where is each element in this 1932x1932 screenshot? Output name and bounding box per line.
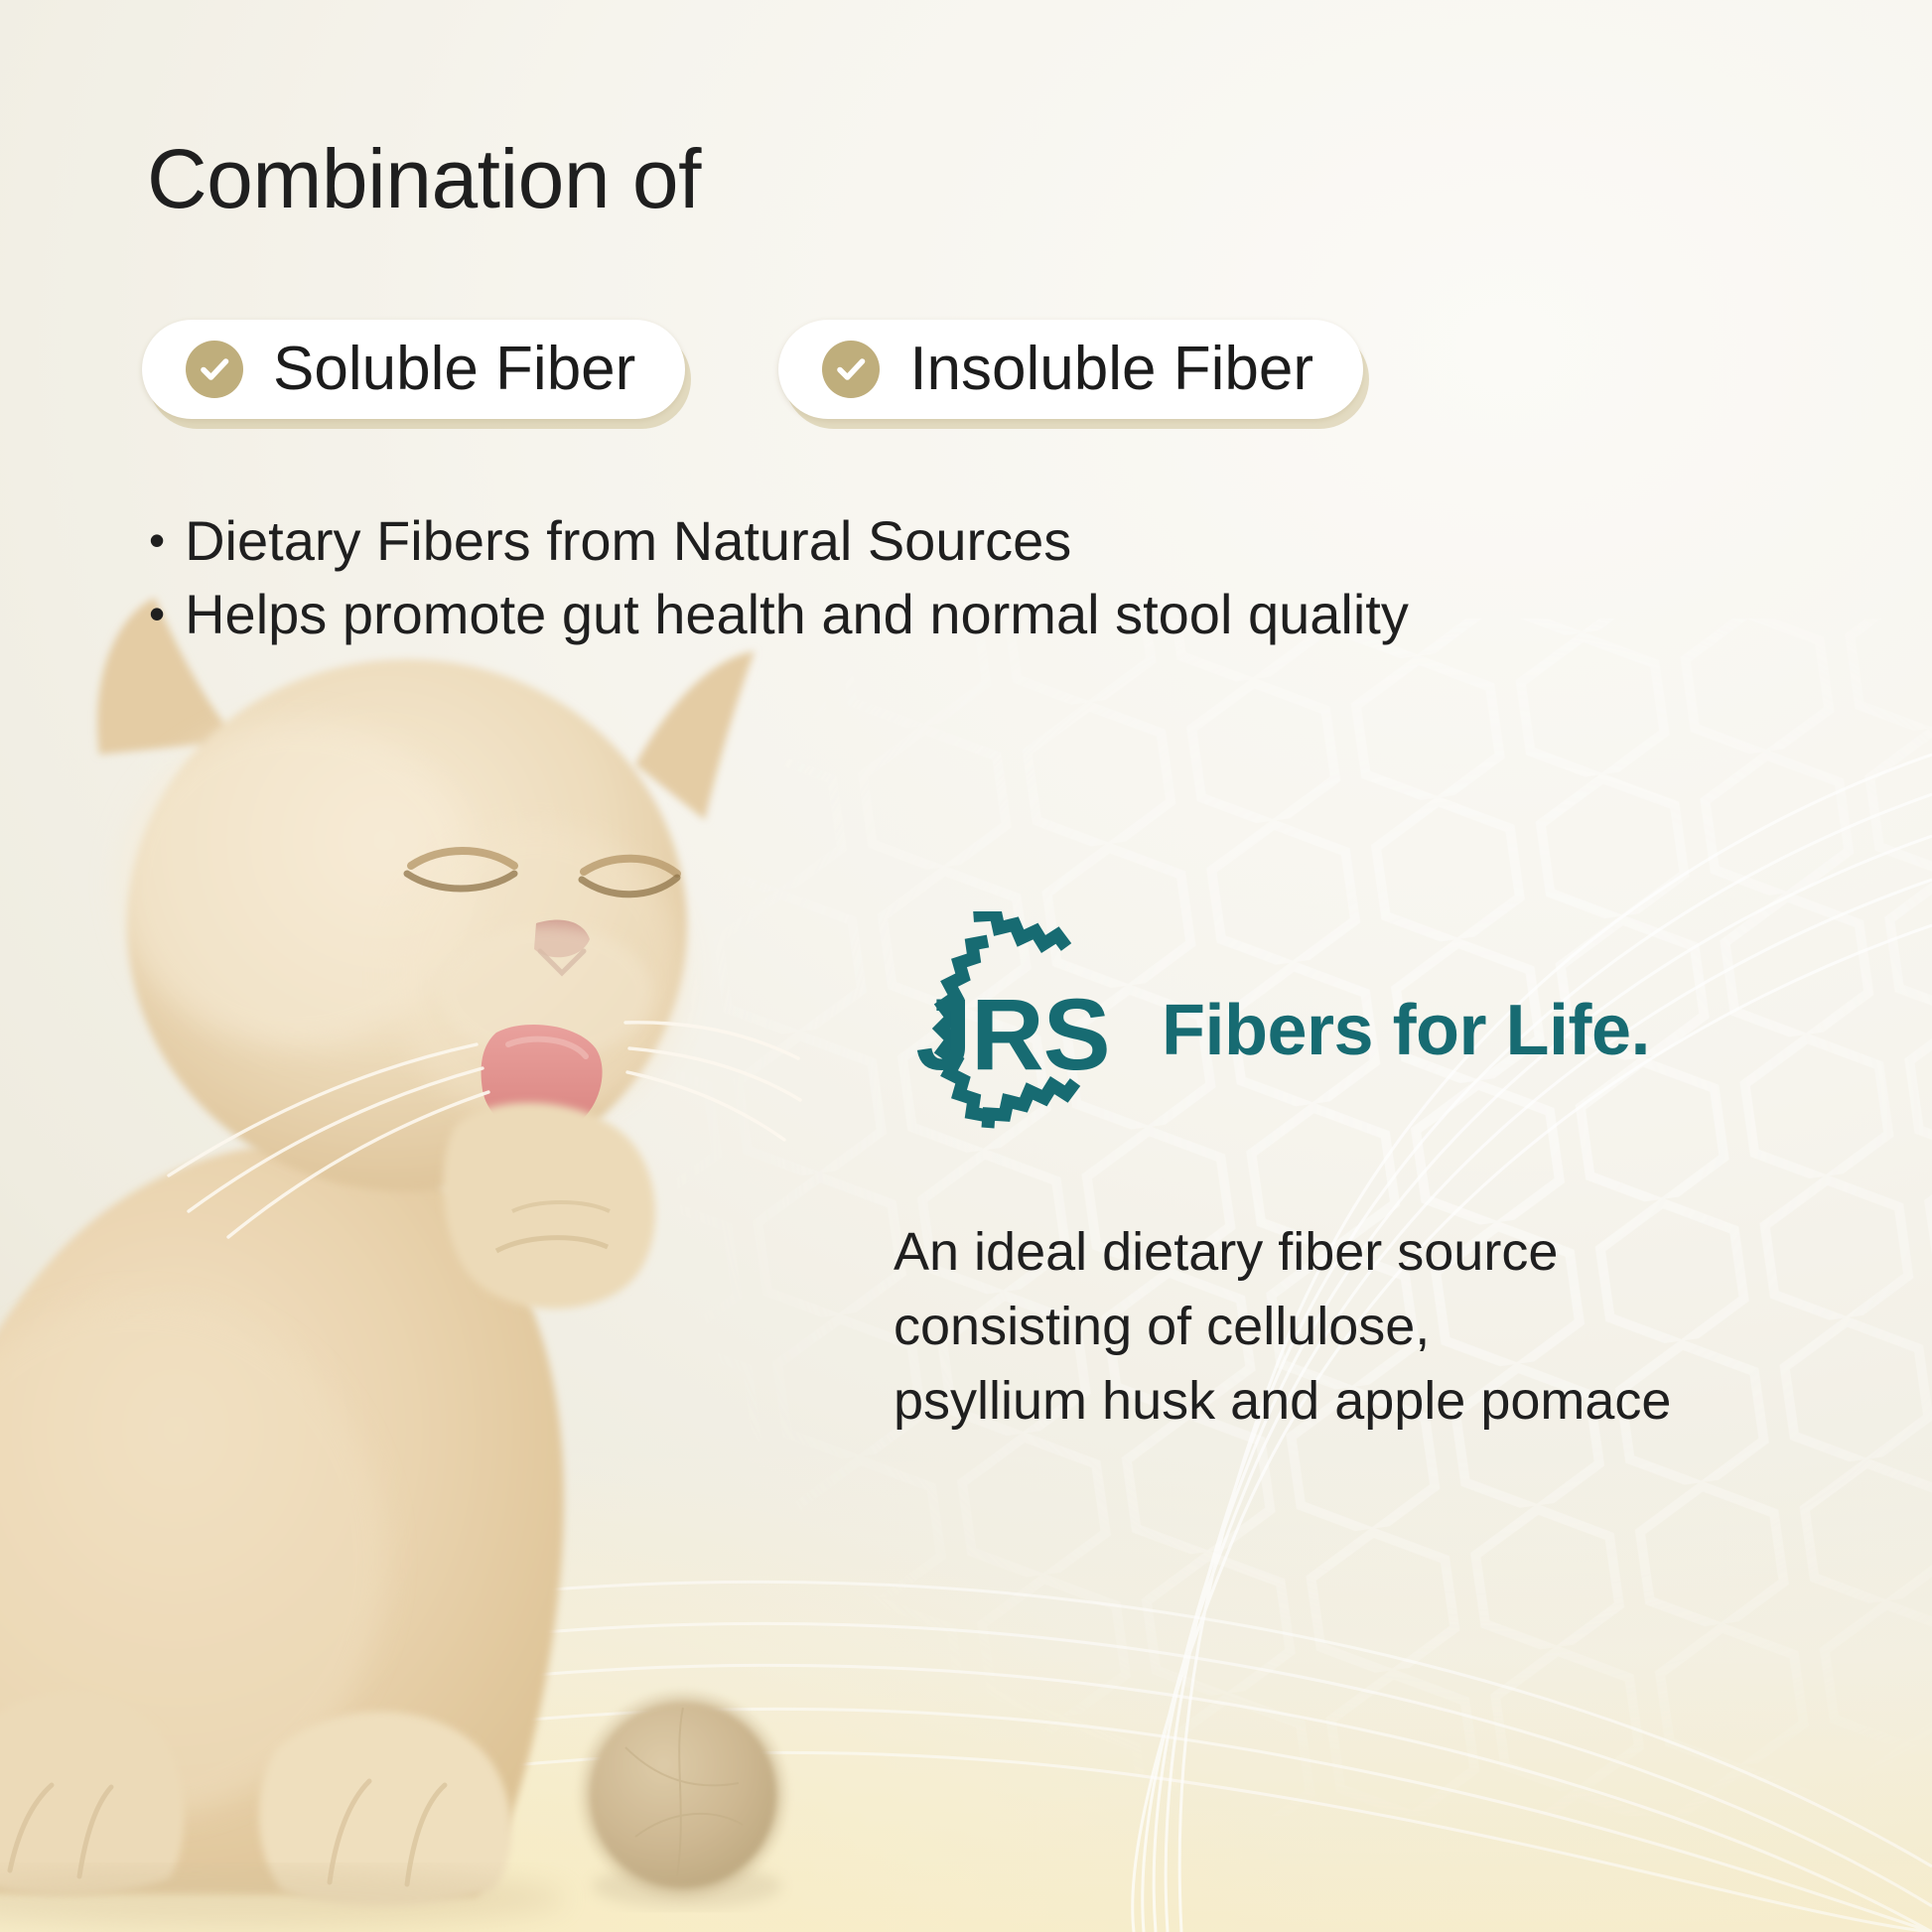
description-line-2: consisting of cellulose, [894, 1290, 1671, 1364]
list-item-text: Dietary Fibers from Natural Sources [185, 504, 1071, 578]
product-description: An ideal dietary fiber source consisting… [894, 1215, 1671, 1439]
list-item: • Helps promote gut health and normal st… [149, 578, 1409, 651]
check-circle-icon [822, 341, 880, 398]
bullet-marker-icon: • [149, 517, 165, 563]
fiber-badge-row: Soluble Fiber Insoluble Fiber [142, 320, 1363, 419]
warm-floor-base [0, 1430, 1932, 1932]
brand-tagline: Fibers for Life. [1162, 990, 1650, 1071]
benefit-list: • Dietary Fibers from Natural Sources • … [149, 504, 1409, 652]
jrs-logo: JRS [872, 911, 1120, 1158]
page-title: Combination of [147, 137, 701, 220]
fiber-badge-label: Insoluble Fiber [909, 339, 1313, 400]
fur-ball [584, 1696, 782, 1908]
check-circle-icon [186, 341, 243, 398]
fiber-badge-label: Soluble Fiber [273, 339, 635, 400]
fiber-badge-soluble[interactable]: Soluble Fiber [142, 320, 685, 419]
brand-lockup: JRS Fibers for Life. [872, 911, 1650, 1158]
list-item: • Dietary Fibers from Natural Sources [149, 504, 1409, 578]
product-infographic: Combination of Soluble Fiber Insoluble F… [0, 0, 1932, 1932]
list-item-text: Helps promote gut health and normal stoo… [185, 578, 1409, 651]
description-line-1: An ideal dietary fiber source [894, 1215, 1671, 1290]
cat-photo [0, 556, 814, 1932]
description-line-3: psyllium husk and apple pomace [894, 1364, 1671, 1439]
fiber-badge-insoluble[interactable]: Insoluble Fiber [778, 320, 1363, 419]
bullet-marker-icon: • [149, 591, 165, 636]
jrs-wordmark: JRS [872, 911, 1120, 1158]
